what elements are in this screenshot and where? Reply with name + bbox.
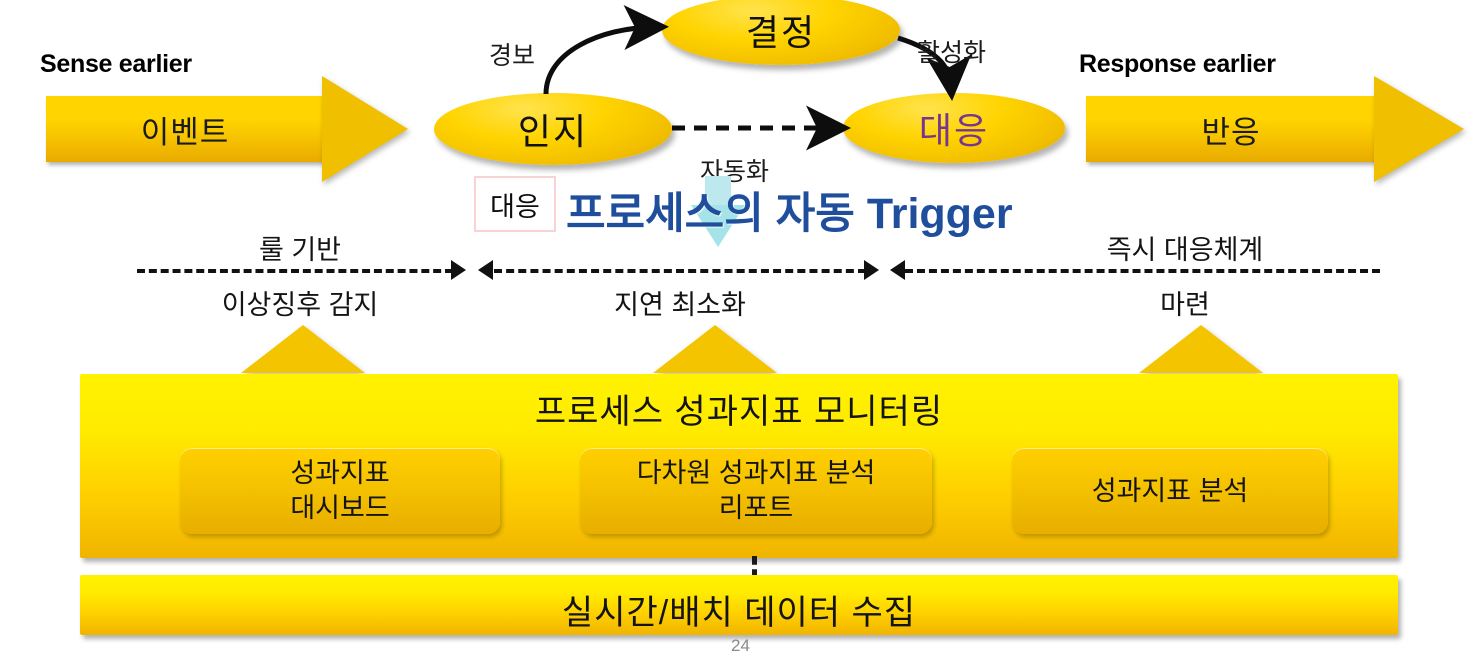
measure-immediate-bottom: 마련 — [1020, 283, 1350, 322]
measure-rule-based-top: 룰 기반 — [140, 228, 460, 267]
measure-immediate-top: 즉시 대응체계 — [1020, 228, 1350, 267]
monitoring-panel: 프로세스 성과지표 모니터링 성과지표 대시보드 다차원 성과지표 분석 리포트… — [80, 374, 1398, 558]
page-title: 프로세스의 자동 Trigger — [566, 179, 1013, 241]
measure-immediate-tip — [890, 260, 905, 280]
sense-block-arrow: 이벤트 — [46, 96, 406, 162]
up-triangle-left — [241, 325, 365, 373]
measure-rule-based-line — [137, 269, 453, 273]
edge-activate-label: 활성화 — [917, 33, 986, 69]
measure-rule-based-arrow — [137, 269, 467, 271]
collection-bar: 실시간/배치 데이터 수집 — [80, 575, 1398, 635]
measure-immediate-arrow — [890, 269, 1380, 271]
response-label: 반응 — [1201, 107, 1260, 152]
node-respond-label: 대응 — [919, 102, 989, 154]
chip-report[interactable]: 다차원 성과지표 분석 리포트 — [580, 448, 932, 534]
measure-latency-line — [494, 269, 866, 273]
chip-dashboard[interactable]: 성과지표 대시보드 — [180, 448, 500, 534]
measure-latency-arrow — [478, 269, 880, 271]
up-triangle-right — [1139, 325, 1263, 373]
sense-arrow-head — [322, 76, 408, 182]
up-triangle-center — [653, 325, 777, 373]
response-arrow-shaft: 반응 — [1086, 96, 1376, 162]
measure-immediate-line — [905, 269, 1380, 273]
monitoring-panel-title: 프로세스 성과지표 모니터링 — [80, 384, 1398, 433]
node-perceive[interactable]: 인지 — [434, 93, 672, 165]
handwritten-note-text: 대응 — [490, 185, 540, 224]
measure-latency-tip-right — [864, 260, 879, 280]
diagram-canvas: Sense earlier 이벤트 Response earlier 반응 인지… — [0, 0, 1475, 653]
event-label: 이벤트 — [141, 107, 230, 152]
node-decide[interactable]: 결정 — [662, 0, 900, 65]
measure-latency-bottom: 지연 최소화 — [480, 283, 880, 322]
measure-rule-based-tip — [451, 260, 466, 280]
node-respond[interactable]: 대응 — [843, 93, 1065, 163]
chip-report-label: 다차원 성과지표 분석 리포트 — [637, 456, 876, 525]
page-number: 24 — [731, 636, 750, 653]
handwritten-note-box: 대응 — [474, 176, 556, 232]
node-decide-label: 결정 — [746, 4, 816, 56]
response-arrow-head — [1374, 76, 1464, 182]
node-perceive-label: 인지 — [518, 103, 588, 155]
chip-dashboard-label: 성과지표 대시보드 — [290, 456, 389, 525]
sense-earlier-caption: Sense earlier — [40, 50, 192, 79]
response-block-arrow: 반응 — [1086, 96, 1466, 162]
measure-latency-tip-left — [478, 260, 493, 280]
collection-bar-label: 실시간/배치 데이터 수집 — [80, 585, 1398, 634]
sense-arrow-shaft: 이벤트 — [46, 96, 324, 162]
edge-alert-path — [546, 27, 654, 94]
chip-analysis[interactable]: 성과지표 분석 — [1012, 448, 1328, 534]
response-earlier-caption: Response earlier — [1079, 50, 1276, 79]
chip-analysis-label: 성과지표 분석 — [1092, 474, 1249, 509]
measure-rule-based-bottom: 이상징후 감지 — [140, 283, 460, 322]
edge-alert-label: 경보 — [489, 36, 535, 72]
